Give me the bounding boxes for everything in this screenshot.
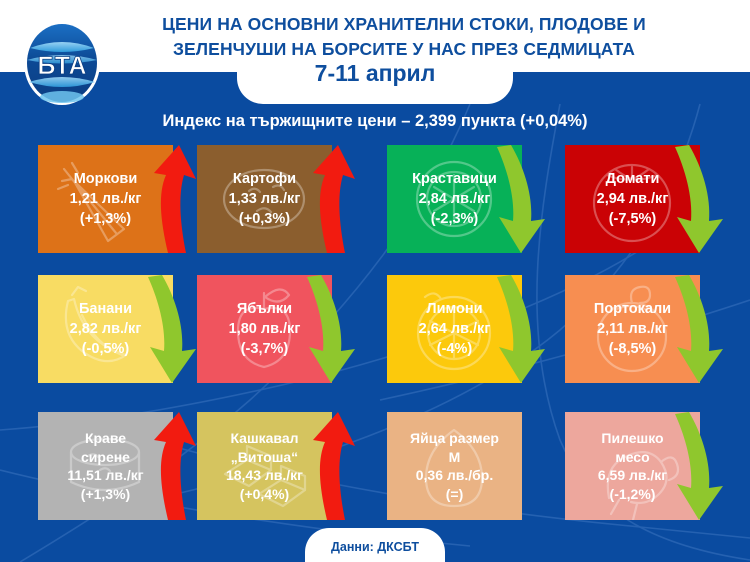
- title-line-1: ЦЕНИ НА ОСНОВНИ ХРАНИТЕЛНИ СТОКИ, ПЛОДОВ…: [104, 12, 704, 37]
- product-change: (-3,7%): [241, 339, 289, 359]
- price-card-chicken: Пилешко месо6,59 лв./кг(-1,2%): [565, 412, 700, 520]
- bta-globe-logo: БТА: [22, 20, 102, 106]
- product-price: 2,84 лв./кг: [419, 189, 491, 209]
- product-change: (-4%): [437, 339, 472, 359]
- data-source-label: Данни: ДКСБТ: [305, 540, 445, 554]
- trend-arrow-up-kashkaval: [305, 408, 361, 524]
- product-price: 18,43 лв./кг: [226, 466, 303, 485]
- product-price: 1,21 лв./кг: [70, 189, 142, 209]
- trend-arrow-down-tomatoes: [673, 141, 729, 257]
- product-change: (+0,3%): [239, 209, 290, 229]
- price-card-cucumbers: Краставици2,84 лв./кг(-2,3%): [387, 145, 522, 253]
- product-price: 0,36 лв./бр.: [416, 466, 494, 485]
- product-price: 2,94 лв./кг: [597, 189, 669, 209]
- product-change: (-1,2%): [610, 485, 656, 504]
- product-name: Краставици: [412, 169, 497, 189]
- product-name: Картофи: [233, 169, 296, 189]
- product-name: Пилешко месо: [601, 429, 663, 466]
- page-title: ЦЕНИ НА ОСНОВНИ ХРАНИТЕЛНИ СТОКИ, ПЛОДОВ…: [104, 12, 704, 62]
- product-change: (-8,5%): [609, 339, 657, 359]
- product-name: Моркови: [74, 169, 138, 189]
- title-line-2: ЗЕЛЕНЧУШИ НА БОРСИТЕ У НАС ПРЕЗ СЕДМИЦАТ…: [104, 37, 704, 62]
- product-change: (+1,3%): [81, 485, 130, 504]
- product-name: Банани: [79, 299, 132, 319]
- price-card-eggs: Яйца размер М0,36 лв./бр.(=): [387, 412, 522, 520]
- product-price: 1,33 лв./кг: [229, 189, 301, 209]
- price-card-apples: Ябълки1,80 лв./кг(-3,7%): [197, 275, 332, 383]
- trend-arrow-up-cheese: [146, 408, 202, 524]
- product-change: (-0,5%): [82, 339, 130, 359]
- product-price: 2,11 лв./кг: [597, 319, 668, 339]
- product-price: 1,80 лв./кг: [229, 319, 301, 339]
- trend-arrow-down-chicken: [673, 408, 729, 524]
- product-name: Ябълки: [237, 299, 292, 319]
- product-name: Портокали: [594, 299, 671, 319]
- price-card-oranges: Портокали2,11 лв./кг(-8,5%): [565, 275, 700, 383]
- trend-arrow-down-apples: [305, 271, 361, 387]
- product-price: 6,59 лв./кг: [598, 466, 667, 485]
- price-card-potatoes: Картофи1,33 лв./кг(+0,3%): [197, 145, 332, 253]
- price-cards-grid: Моркови1,21 лв./кг(+1,3%)Картофи1,33 лв.…: [0, 140, 750, 535]
- product-name: Краве сирене: [81, 429, 130, 466]
- product-name: Лимони: [426, 299, 482, 319]
- price-card-kashkaval: Кашкавал „Витоша“18,43 лв./кг(+0,4%): [197, 412, 332, 520]
- product-name: Яйца размер М: [410, 429, 499, 466]
- product-price: 2,82 лв./кг: [70, 319, 142, 339]
- product-name: Домати: [606, 169, 660, 189]
- trend-arrow-up-carrots: [146, 141, 202, 257]
- index-summary: Индекс на тържищните цени – 2,399 пункта…: [0, 112, 750, 131]
- date-range-label: 7-11 април: [237, 60, 513, 87]
- product-change: (-7,5%): [609, 209, 657, 229]
- price-card-bananas: Банани2,82 лв./кг(-0,5%): [38, 275, 173, 383]
- trend-arrow-up-potatoes: [305, 141, 361, 257]
- product-price: 11,51 лв./кг: [67, 466, 143, 485]
- trend-arrow-down-lemons: [495, 271, 551, 387]
- product-name: Кашкавал „Витоша“: [230, 429, 298, 466]
- product-price: 2,64 лв./кг: [419, 319, 491, 339]
- price-card-cheese: Краве сирене11,51 лв./кг(+1,3%): [38, 412, 173, 520]
- price-card-carrots: Моркови1,21 лв./кг(+1,3%): [38, 145, 173, 253]
- product-change: (-2,3%): [431, 209, 479, 229]
- infographic-page: БТА ЦЕНИ НА ОСНОВНИ ХРАНИТЕЛНИ СТОКИ, ПЛ…: [0, 0, 750, 562]
- trend-arrow-down-cucumbers: [495, 141, 551, 257]
- price-card-lemons: Лимони2,64 лв./кг(-4%): [387, 275, 522, 383]
- product-change: (=): [446, 485, 464, 504]
- price-card-tomatoes: Домати2,94 лв./кг(-7,5%): [565, 145, 700, 253]
- trend-arrow-down-bananas: [146, 271, 202, 387]
- product-change: (+0,4%): [240, 485, 289, 504]
- trend-arrow-down-oranges: [673, 271, 729, 387]
- product-change: (+1,3%): [80, 209, 131, 229]
- bta-logo-text: БТА: [37, 52, 86, 80]
- card-text-eggs: Яйца размер М0,36 лв./бр.(=): [387, 412, 522, 520]
